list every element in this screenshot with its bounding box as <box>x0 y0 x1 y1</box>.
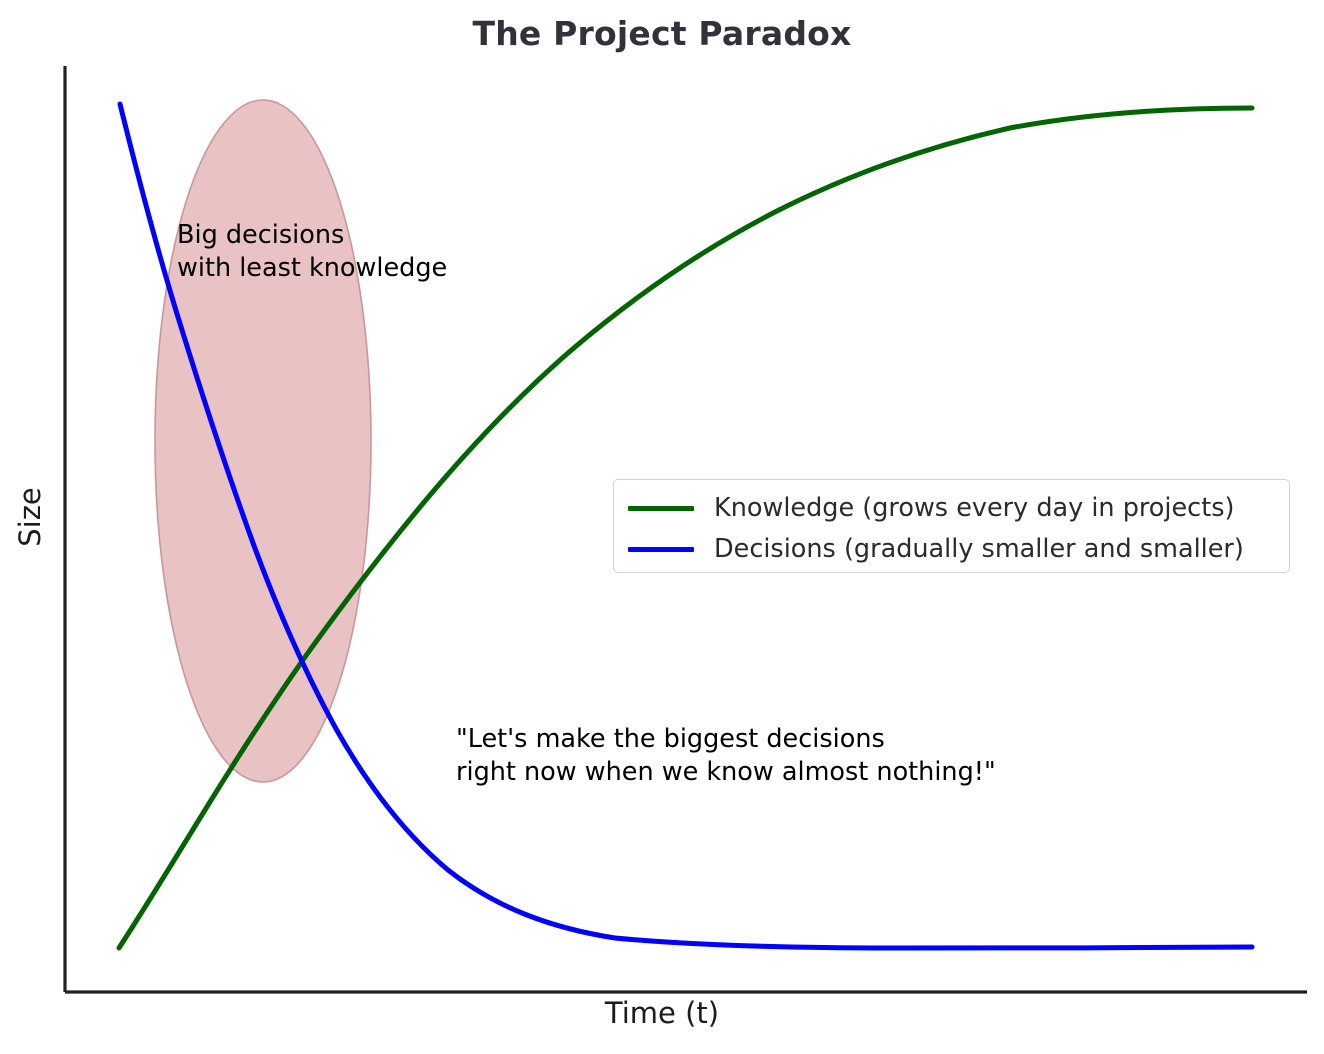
annotation-quote: "Let's make the biggest decisionsright n… <box>456 723 996 788</box>
legend-swatch-decisions-icon <box>628 547 694 552</box>
annotation-quote-line1: "Let's make the biggest decisions <box>456 724 885 754</box>
legend-item-decisions[interactable]: Decisions (gradually smaller and smaller… <box>628 529 1244 569</box>
legend-item-knowledge[interactable]: Knowledge (grows every day in projects) <box>628 488 1234 528</box>
x-axis-label: Time (t) <box>0 996 1324 1030</box>
legend-label-decisions: Decisions (gradually smaller and smaller… <box>714 534 1244 564</box>
chart-figure: The Project Paradox Big decisionswith le… <box>0 0 1324 1054</box>
legend-swatch-knowledge-icon <box>628 506 694 511</box>
legend-label-knowledge: Knowledge (grows every day in projects) <box>714 493 1234 523</box>
annotation-big-decisions: Big decisionswith least knowledge <box>177 219 447 284</box>
annotation-big-decisions-line2: with least knowledge <box>177 253 447 283</box>
annotation-big-decisions-line1: Big decisions <box>177 220 344 250</box>
highlight-ellipse <box>155 100 371 782</box>
annotation-quote-line2: right now when we know almost nothing!" <box>456 757 996 787</box>
chart-legend[interactable]: Knowledge (grows every day in projects) … <box>613 479 1290 573</box>
y-axis-label: Size <box>13 457 47 577</box>
